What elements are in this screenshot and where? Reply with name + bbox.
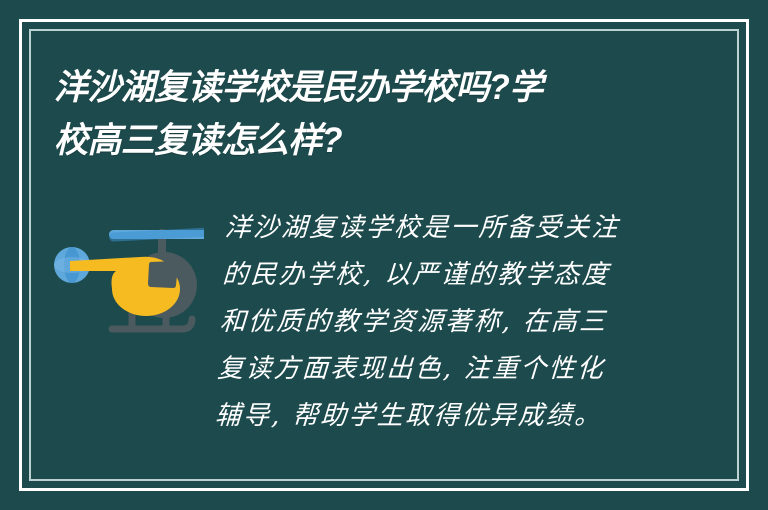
helicopter-window-icon — [148, 261, 178, 288]
content-row: 洋沙湖复读学校是一所备受关注 的民办学校, 以严谨的教学态度 和优质的教学资源著… — [54, 205, 714, 440]
article-card: 洋沙湖复读学校是民办学校吗?学 校高三复读怎么样? — [0, 0, 768, 510]
body-line-5: 辅导, 帮助学生取得优异成绩。 — [214, 393, 698, 440]
body-line-3: 和优质的教学资源著称, 在高三 — [219, 299, 703, 346]
title-line-1: 洋沙湖复读学校是民办学校吗?学 — [54, 61, 655, 114]
body-line-4: 复读方面表现出色, 注重个性化 — [216, 346, 700, 393]
helicopter-main-rotor-icon — [109, 227, 204, 242]
article-body: 洋沙湖复读学校是一所备受关注 的民办学校, 以严谨的教学态度 和优质的教学资源著… — [202, 205, 714, 440]
body-line-2: 的民办学校, 以严谨的教学态度 — [221, 252, 705, 299]
body-line-1: 洋沙湖复读学校是一所备受关注 — [224, 205, 708, 252]
title-line-2: 校高三复读怎么样? — [54, 114, 655, 167]
helicopter-illustration — [54, 205, 214, 343]
page-title: 洋沙湖复读学校是民办学校吗?学 校高三复读怎么样? — [54, 61, 674, 167]
helicopter-icon — [54, 213, 204, 343]
